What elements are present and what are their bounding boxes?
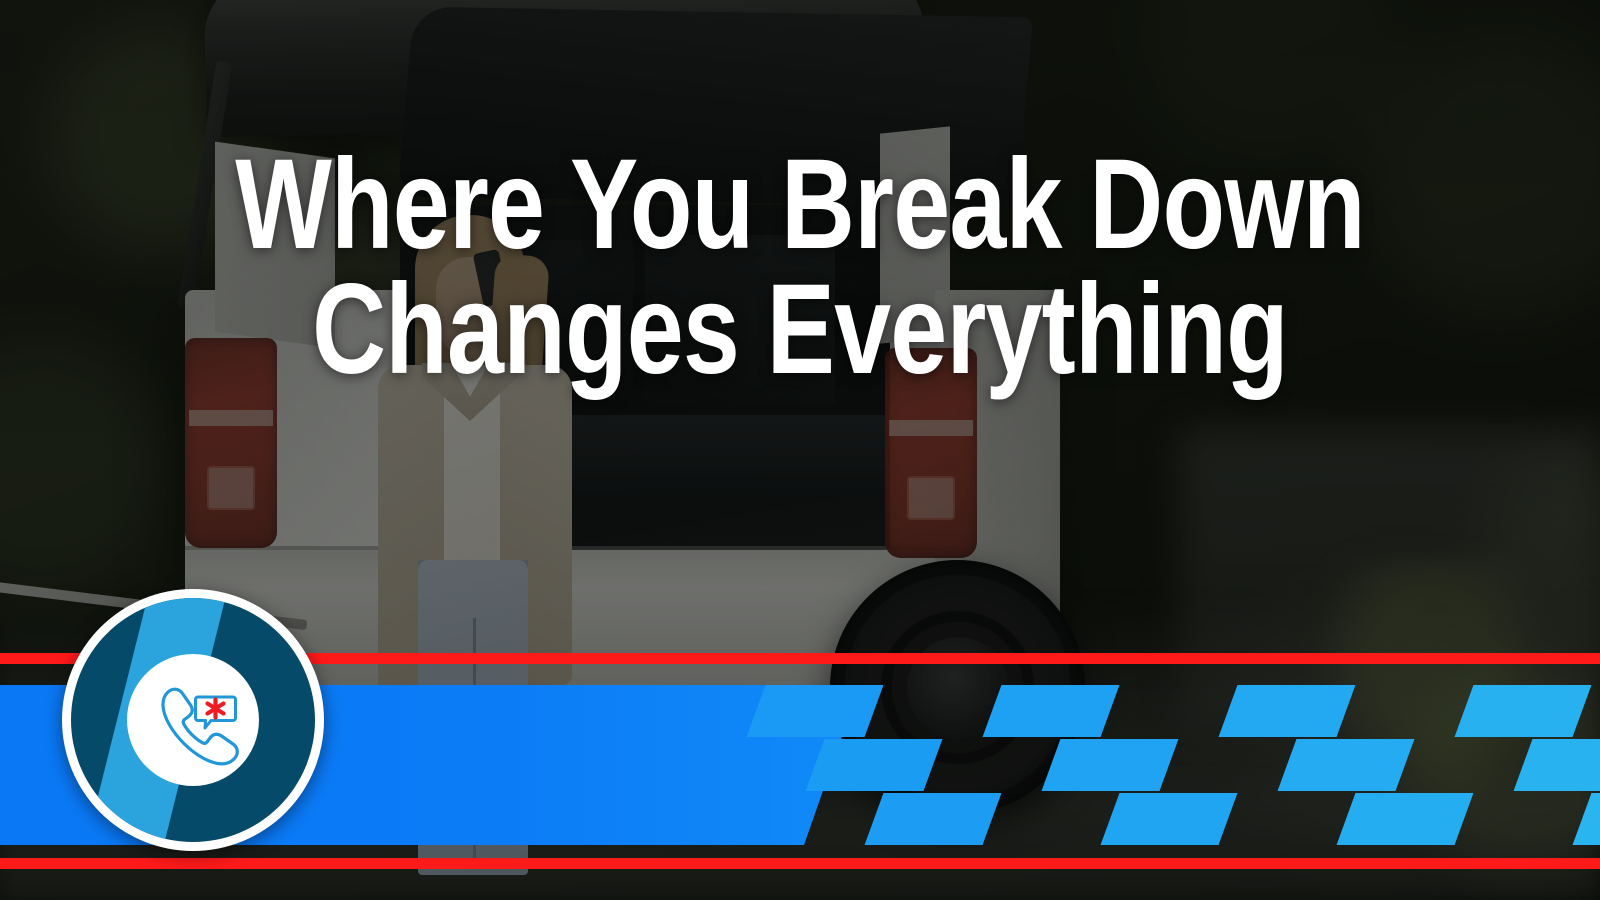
hero-banner: Where You Break Down Changes Everything bbox=[0, 0, 1600, 900]
checkered-pattern bbox=[520, 685, 1600, 845]
page-title: Where You Break Down Changes Everything bbox=[160, 142, 1440, 393]
checker-cell bbox=[1278, 739, 1415, 791]
checker-cell bbox=[747, 685, 884, 737]
phone-handset-icon bbox=[141, 668, 245, 772]
headline-line-1: Where You Break Down bbox=[160, 142, 1440, 267]
checker-cell bbox=[1514, 739, 1600, 791]
checker-cell bbox=[1337, 793, 1474, 845]
checker-cell bbox=[1101, 793, 1238, 845]
checker-cell bbox=[983, 685, 1120, 737]
headline-line-2: Changes Everything bbox=[160, 267, 1440, 392]
checker-cell bbox=[1042, 739, 1179, 791]
checker-cell bbox=[1455, 685, 1592, 737]
checker-cell bbox=[1219, 685, 1356, 737]
checker-cell bbox=[865, 793, 1002, 845]
checker-cell bbox=[1573, 793, 1600, 845]
red-rule-bottom bbox=[0, 858, 1600, 869]
brand-logo[interactable] bbox=[62, 589, 324, 851]
logo-disc bbox=[71, 598, 315, 842]
checker-cell bbox=[806, 739, 943, 791]
